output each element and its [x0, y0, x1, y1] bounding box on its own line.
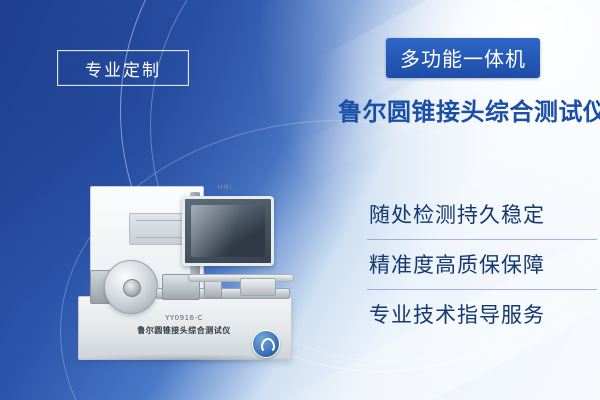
list-item: 专业技术指导服务	[367, 290, 597, 339]
panel-window	[129, 213, 189, 245]
list-item: 随处检测持久稳定	[367, 190, 597, 240]
headline-chip: 多功能一体机	[386, 38, 540, 78]
hand-wheel	[104, 260, 158, 314]
promotional-poster: 专业定制 多功能一体机 鲁尔圆锥接头综合测试仪 随处检测持久稳定 精准度高质保保…	[0, 0, 600, 400]
list-item: 精准度高质保保障	[367, 240, 597, 290]
page-title: 鲁尔圆锥接头综合测试仪	[338, 92, 588, 127]
feature-list: 随处检测持久稳定 精准度高质保保障 专业技术指导服务	[367, 190, 597, 339]
touch-screen	[182, 196, 274, 266]
machine-model-code: YY0916-C	[78, 314, 290, 322]
machine-illustration: HMI YY0916-C 鲁尔圆锥接头综合测试仪	[70, 178, 320, 378]
custom-made-badge: 专业定制	[57, 50, 189, 86]
screen-display	[191, 205, 265, 257]
screen-brand-label: HMI	[182, 184, 268, 191]
headline-block: 多功能一体机 鲁尔圆锥接头综合测试仪	[338, 38, 588, 127]
drop-shadow	[74, 354, 296, 364]
clamp-block	[240, 278, 276, 296]
custom-made-badge-label: 专业定制	[85, 56, 161, 81]
